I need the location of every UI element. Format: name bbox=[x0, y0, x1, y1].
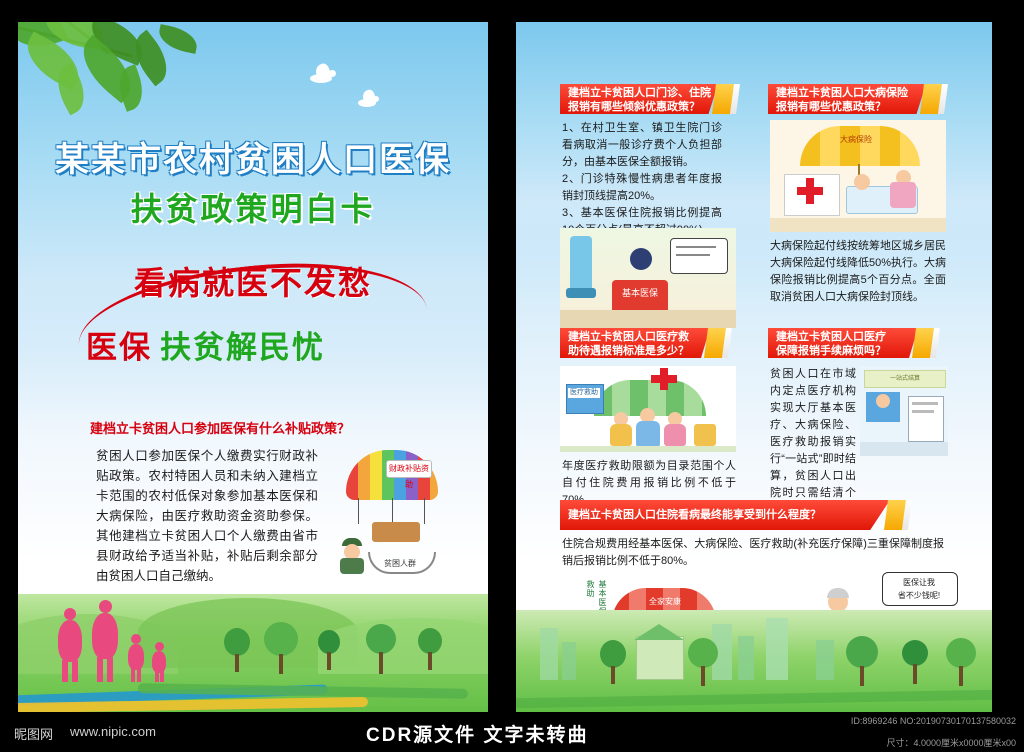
block-outpatient-pic-label: 基本医保 bbox=[614, 286, 666, 300]
left-body-text: 贫困人口参加医保个人缴费实行财政补贴政策。农村特困人员和未纳入建档立卡范围的农村… bbox=[96, 446, 318, 586]
block-medical-aid-pic-label: 医疗救助 bbox=[568, 388, 600, 398]
block-serious-illness-title: 建档立卡贫困人口大病保险 报销有哪些优惠政策？ bbox=[768, 84, 926, 114]
umbrella-label: 全家安康 bbox=[630, 596, 700, 608]
block-settlement-title: 建档立卡贫困人口医疗 保障报销手续麻烦吗？ bbox=[768, 328, 918, 358]
left-question: 建档立卡贫困人口参加医保有什么补贴政策？ bbox=[90, 418, 350, 437]
footer-sub-line: 尺寸：4.0000厘米x0000厘米x00 bbox=[886, 736, 1016, 749]
block-settlement-pic-label: 一站式结算 bbox=[864, 370, 946, 388]
poster-title: 某某市农村贫困人口医保 bbox=[18, 132, 488, 181]
block-serious-illness-pic-label: 大病保险 bbox=[826, 134, 886, 146]
poster-subtitle: 扶贫政策明白卡 bbox=[18, 184, 488, 230]
balloon-illustration: 财政补贴资助 贫困人群 bbox=[328, 450, 468, 580]
block-medical-aid-illustration: 医疗救助 bbox=[560, 366, 736, 452]
block-medical-aid-title: 建档立卡贫困人口医疗救 助待遇报销标准是多少？ bbox=[560, 328, 710, 358]
balloon-label: 贫困人群 bbox=[370, 558, 430, 570]
poster-right: 建档立卡贫困人口门诊、住院 报销有哪些倾斜优惠政策？ 1、在村卫生室、镇卫生院门… bbox=[516, 22, 992, 714]
screenshot-root: 某某市农村贫困人口医保 扶贫政策明白卡 看病就医不发愁 医保 扶贫解民忧 建档立… bbox=[0, 0, 1024, 752]
block-serious-illness-text: 大病保险起付线按统筹地区城乡居民大病保险起付线降低50%执行。大病保险报销比例提… bbox=[770, 238, 946, 306]
ground-scene bbox=[18, 594, 488, 714]
block-outpatient-text: 1、在村卫生室、镇卫生院门诊看病取消一般诊疗费个人负担部分，由基本医保全额报销。… bbox=[562, 120, 722, 239]
block-outpatient-title: 建档立卡贫困人口门诊、住院 报销有哪些倾斜优惠政策？ bbox=[560, 84, 718, 114]
poster-left: 某某市农村贫困人口医保 扶贫政策明白卡 看病就医不发愁 医保 扶贫解民忧 建档立… bbox=[18, 22, 488, 714]
block-settlement-text: 贫困人口在市域内定点医疗机构实现大厅基本医疗、大病保险、医疗救助报销实行“一站式… bbox=[770, 366, 856, 519]
block-serious-illness-illustration: 大病保险 bbox=[770, 120, 946, 232]
footer-id-line: ID:8969246 NO:20190730170137580032 bbox=[851, 716, 1016, 726]
block-settlement-illustration: 一站式结算 bbox=[860, 366, 948, 456]
block-outpatient-illustration: 基本医保 bbox=[560, 228, 736, 328]
bubble-text: 医保让我 省不少钱呢! bbox=[886, 576, 952, 602]
site-url: www.nipic.com bbox=[70, 724, 156, 739]
balloon-caption: 财政补贴资助 bbox=[386, 460, 432, 478]
block-total-title: 建档立卡贫困人口住院看病最终能享受到什么程度？ bbox=[560, 500, 890, 530]
site-logo: 昵图网 bbox=[14, 724, 53, 743]
ground-scene-right bbox=[516, 610, 992, 714]
block-total-text: 住院合规费用经基本医保、大病保险、医疗救助(补充医疗保障)三重保障制度报销后报销… bbox=[562, 536, 944, 570]
footer-center-text: CDR源文件 文字未转曲 bbox=[366, 720, 588, 747]
footer-bar: 昵图网 www.nipic.com CDR源文件 文字未转曲 ID:896924… bbox=[0, 712, 1024, 752]
